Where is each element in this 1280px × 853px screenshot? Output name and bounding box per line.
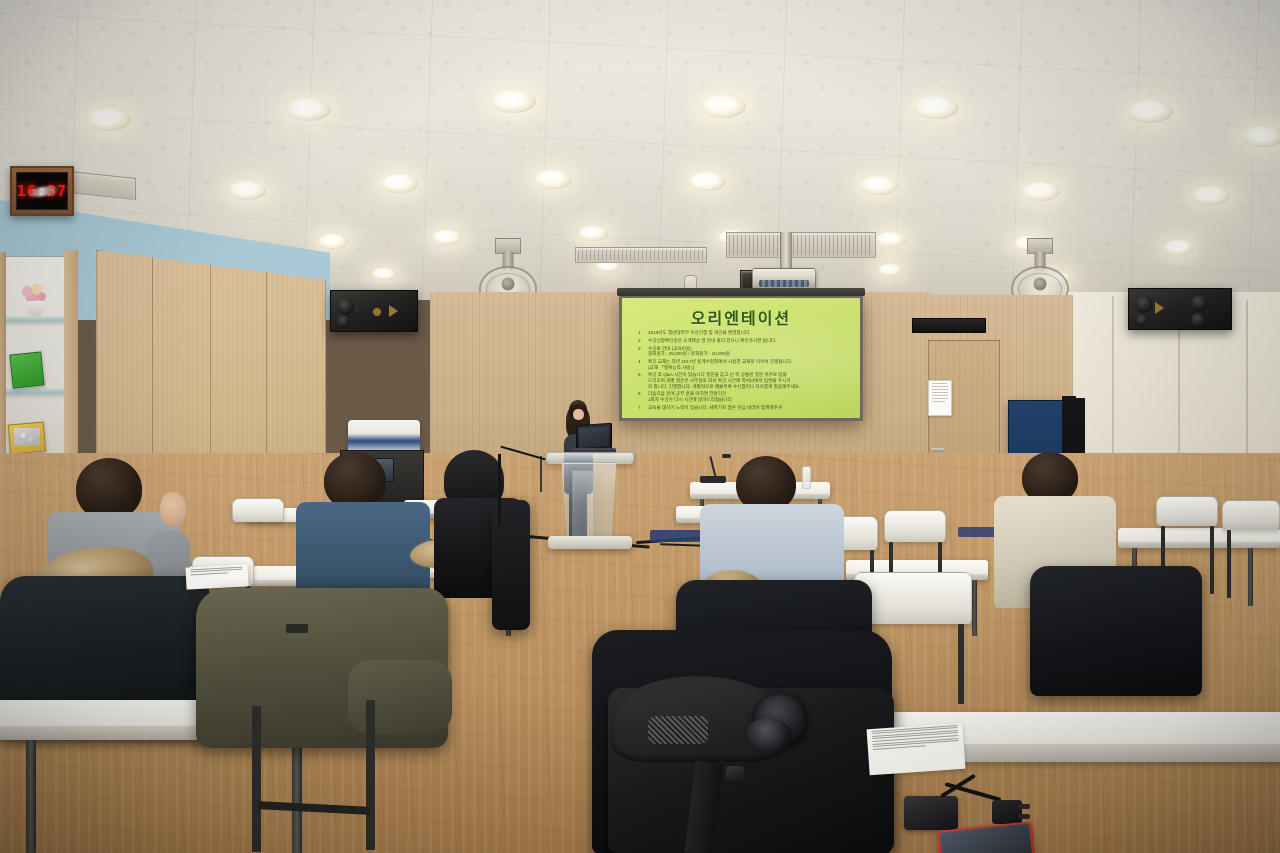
camera-bag-buckle [726,766,744,780]
speaker-cone [337,298,354,315]
chair-backrest [1156,496,1218,526]
attendee-hand [160,492,186,526]
led-wall-clock: 16:37 [10,166,74,216]
doc-line [191,572,228,575]
chair-backrest [232,498,284,522]
notice-line [932,383,947,384]
slide-bullet-number: 5. [638,372,645,389]
slide-bullet-number: 3. [638,346,645,357]
slide-bullet: 6.다음다음 끝에 공부 끝을 마치면 전달기간1회차 수강은 다시 시간에 알… [638,391,848,402]
printed-handout [867,723,966,776]
right-pa-speaker [1128,288,1232,330]
camera-bag-mesh-pocket [648,716,708,744]
table-leg [26,740,36,853]
stored-equipment-cover [348,420,420,454]
slide-text-line: 교육을 대하기 노력이 있습니다. 새학기로 많은 관심 바라며 함께해주셔 [648,405,848,411]
ceiling-downlight [878,264,902,276]
notice-line [932,398,948,399]
ceiling-downlight [700,95,746,118]
ceiling-downlight [1164,240,1194,255]
notice-line [932,389,948,390]
slide-bullet-lines: 2018년도 청년대학부 수강신청 및 개강을 환영합니다. [648,330,848,336]
ceiling-downlight [860,176,898,195]
glass-shelf [5,317,65,322]
table-leg [972,580,977,636]
ceiling-downlight [228,181,266,200]
fan-hub [1034,278,1047,291]
presentation-slide: 오리엔테이션 1.2018년도 청년대학부 수강신청 및 개강을 환영합니다.2… [622,298,860,418]
door-handle[interactable] [931,448,945,452]
coat-on-chair [1030,566,1202,696]
chair-backrest [884,510,946,542]
slide-bullet-number: 7. [638,405,645,411]
ceiling-downlight [1192,186,1230,205]
slide-bullet-lines: 수강료 안내 (교육비용)정회원가 : 25,000원 / 준회원가 : 10,… [648,346,848,357]
chair-leg [1210,526,1214,594]
speaker-logo-icon [1155,302,1164,314]
clock-face: 16:37 [16,172,68,210]
power-adapter [904,796,958,830]
camera-lens-ring [744,718,792,752]
flower-vase [27,301,43,317]
projection-screen: 오리엔테이션 1.2018년도 청년대학부 수강신청 및 개강을 환영합니다.2… [619,295,863,421]
slide-bullet-lines: 다음다음 끝에 공부 끝을 마치면 전달기간1회차 수강은 다시 시간에 알려드… [648,391,848,402]
speaker-indicator [373,308,381,316]
chair-leg [252,706,261,852]
notice-line [932,386,948,387]
ceiling-downlight [372,268,396,280]
chair-leg [1227,530,1231,598]
folding-chair[interactable] [1222,500,1280,604]
plug-prong-icon [1018,814,1030,819]
speaker-cone [1191,295,1207,311]
speaker-cone [1135,295,1153,313]
attendee-head [76,458,142,520]
slide-text-line: 라 합니다. 진행합니다. 개별적으로 배울목록 수신함이나 자유롭게 말씀해주… [648,384,848,390]
notice-line [932,401,945,402]
ceiling-downlight [380,174,418,193]
ceiling-downlight [876,232,906,247]
slide-bullet: 1.2018년도 청년대학부 수강신청 및 개강을 환영합니다. [638,330,848,336]
slide-bullet: 2.수강신청확인증은 소개책상 옆 안내 폴더 있으니 확인하시면 됩니다. [638,338,848,344]
plug-prong-icon [1018,804,1030,809]
power-plug [992,800,1022,824]
ceiling-downlight [688,172,726,191]
slide-text-line: 수강신청확인증은 소개책상 옆 안내 폴더 있으니 확인하시면 됩니다. [648,338,848,344]
ceiling-downlight [318,234,348,249]
ceiling-downlight [1127,100,1173,123]
fan-hub [502,278,515,291]
slide-bullet: 5.특강 후 Q&A 시간이 있습니다 질문을 듣고 난 뒤 공통된 질문 위주… [638,372,848,389]
handout-sheet [185,564,248,589]
slide-bullet-lines: 특강 후 Q&A 시간이 있습니다 질문을 듣고 난 뒤 공통된 질문 위주로 … [648,372,848,389]
presenter-face [573,409,584,420]
speaker-cone [337,315,350,328]
slide-text-line: 1회차 수강은 다시 시간에 알려드리겠습니다. [648,397,848,403]
notice-line [932,395,948,396]
table-leg [292,740,302,853]
boom-mic-stand [498,454,501,526]
glass-shelf [5,389,65,394]
seminar-room-photo: 16:37 오리엔테이션 [0,0,1280,853]
podium-base [548,536,632,549]
slide-text-line: 2018년도 청년대학부 수강신청 및 개강을 환영합니다. [648,330,848,336]
podium-mic-stand [540,456,542,492]
craft-plaque-inner [14,428,40,446]
speaker-cone [1191,313,1205,327]
slide-bullet-number: 6. [638,391,645,402]
coat-tag [286,624,308,633]
right-back-speaker-bar [912,318,986,333]
slide-bullet: 3.수강료 안내 (교육비용)정회원가 : 25,000원 / 준회원가 : 1… [638,346,848,357]
ceiling-downlight [285,98,331,121]
slide-bullet-lines: 교육을 대하기 노력이 있습니다. 새학기로 많은 관심 바라며 함께해주셔 [648,405,848,411]
slide-title: 오리엔테이션 [622,305,860,329]
projector [752,268,816,290]
left-pa-speaker [330,290,418,332]
ceiling-downlight [1022,182,1060,201]
ceiling-downlight [534,170,572,189]
ceiling-air-vent [575,247,707,263]
projector-mount-pole [780,232,792,272]
ceiling-downlight [85,108,131,131]
slide-bullet-number: 2. [638,338,645,344]
folding-chair[interactable] [232,498,284,568]
chair-leg [958,624,964,704]
slide-bullet: 7.교육을 대하기 노력이 있습니다. 새학기로 많은 관심 바라며 함께해주셔 [638,405,848,411]
slide-bullet-lines: 수강신청확인증은 소개책상 옆 안내 폴더 있으니 확인하시면 됩니다. [648,338,848,344]
chair-leg [366,700,375,850]
ceiling-air-vent [726,232,876,258]
ceiling-downlight [578,226,608,241]
slide-text-line: (교재 「행복능력 사랑」) [648,365,848,371]
slide-bullet-number: 1. [638,330,645,336]
slide-bullet-lines: 특강 교재는 작년 2017년 동계수련회에서 사용한 교재로 이어서 진행됩니… [648,359,848,370]
speaker-logo-icon [389,305,398,317]
podium-inner-panel [572,470,594,542]
ceiling-downlight [432,230,462,245]
presenter-laptop-screen [576,423,612,452]
slide-bullet: 4.특강 교재는 작년 2017년 동계수련회에서 사용한 교재로 이어서 진행… [638,359,848,370]
slide-body: 1.2018년도 청년대학부 수강신청 및 개강을 환영합니다.2.수강신청확인… [638,330,848,412]
chair-backrest [1222,500,1280,530]
wall-notice [928,380,952,416]
screen-roller-case [617,288,865,296]
ceiling-downlight [490,90,536,113]
slide-bullet-number: 4. [638,359,645,370]
speaker-cone [1136,314,1148,326]
green-artwork [9,351,44,388]
ceiling-downlight [1242,126,1280,147]
coat-sleeve [348,660,452,734]
notice-line [932,392,948,393]
slide-text-line: 정회원가 : 25,000원 / 준회원가 : 10,000원 [648,351,848,357]
ceiling-downlight [913,96,959,119]
